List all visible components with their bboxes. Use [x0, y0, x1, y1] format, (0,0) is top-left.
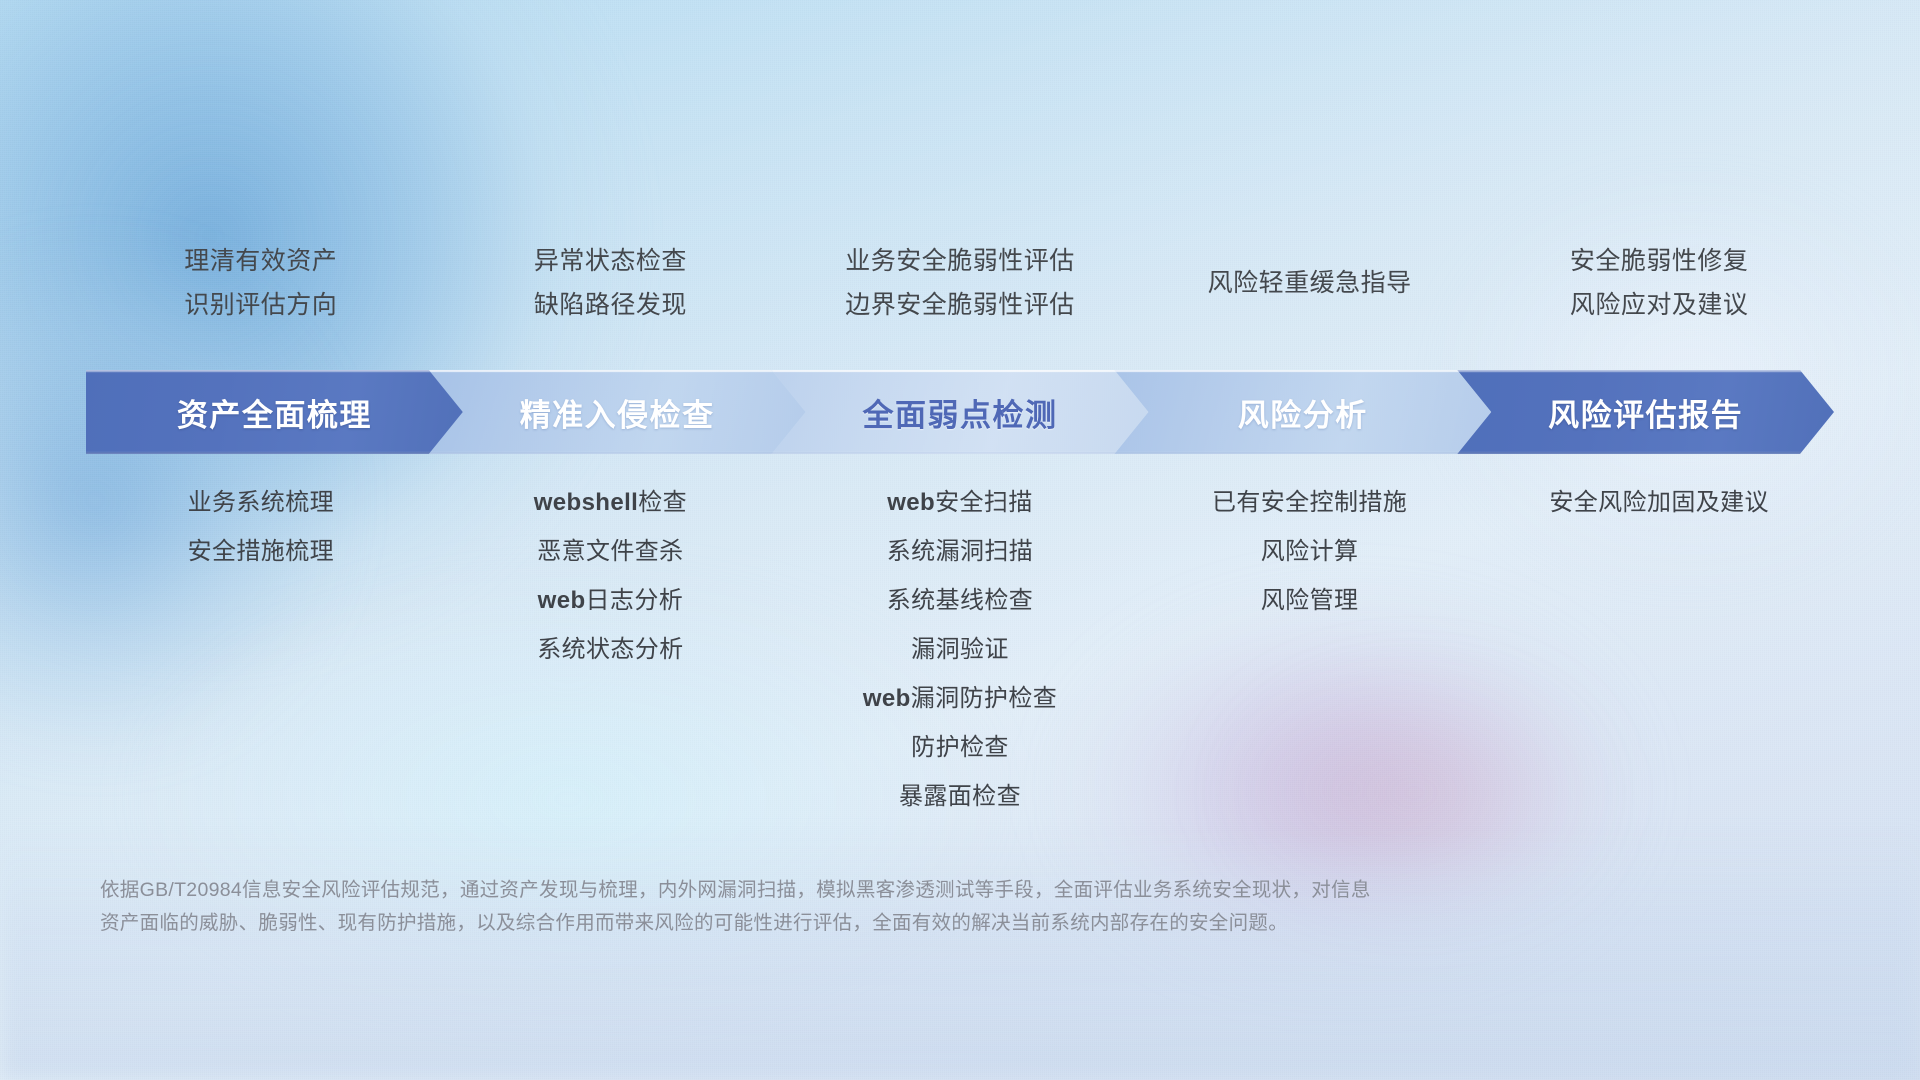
top-descriptor-column-3: 业务安全脆弱性评估边界安全脆弱性评估 — [785, 228, 1135, 338]
process-stage-label: 精准入侵检查 — [520, 390, 715, 435]
detail-item-text: 漏洞验证 — [911, 636, 1009, 663]
top-descriptor-item: 安全脆弱性修复 — [1570, 239, 1749, 283]
detail-item-text: 暴露面检查 — [899, 783, 1021, 810]
detail-item-latin: web — [887, 489, 935, 516]
process-stage-label: 全面弱点检测 — [862, 390, 1057, 435]
process-stage-label: 风险分析 — [1238, 390, 1368, 435]
detail-item-text: 业务系统梳理 — [188, 489, 334, 516]
process-stage-label: 资产全面梳理 — [177, 390, 372, 435]
detail-item: 安全风险加固及建议 — [1549, 478, 1769, 527]
detail-item: web漏洞防护检查 — [863, 674, 1057, 723]
detail-item: 风险管理 — [1261, 576, 1359, 625]
detail-item-latin: web — [863, 685, 911, 712]
detail-column-1: 业务系统梳理安全措施梳理 — [86, 478, 436, 576]
process-chevron-band: 资产全面梳理精准入侵检查全面弱点检测风险分析风险评估报告 — [86, 370, 1834, 454]
detail-item: 系统基线检查 — [887, 576, 1033, 625]
detail-column-3: web安全扫描系统漏洞扫描系统基线检查漏洞验证web漏洞防护检查防护检查暴露面检… — [785, 478, 1135, 821]
detail-item-latin: webshell — [534, 489, 639, 516]
detail-item: 业务系统梳理 — [188, 478, 334, 527]
top-descriptor-column-2: 异常状态检查缺陷路径发现 — [436, 228, 786, 338]
detail-item: 漏洞验证 — [911, 625, 1009, 674]
top-descriptor-item: 理清有效资产 — [184, 239, 337, 283]
top-descriptor-item: 业务安全脆弱性评估 — [845, 239, 1075, 283]
detail-item: 暴露面检查 — [899, 772, 1021, 821]
detail-item: 系统状态分析 — [537, 625, 683, 674]
process-stage-label: 风险评估报告 — [1548, 390, 1743, 435]
detail-column-5: 安全风险加固及建议 — [1484, 478, 1834, 527]
detail-item-text: 风险管理 — [1261, 587, 1359, 614]
detail-item-text: 系统基线检查 — [887, 587, 1033, 614]
detail-item-text: 安全扫描 — [935, 489, 1033, 516]
top-descriptor-item: 缺陷路径发现 — [534, 283, 687, 327]
detail-item-text: 安全风险加固及建议 — [1549, 489, 1769, 516]
footer-description: 依据GB/T20984信息安全风险评估规范，通过资产发现与梳理，内外网漏洞扫描，… — [100, 874, 1700, 940]
top-descriptor-row: 理清有效资产识别评估方向异常状态检查缺陷路径发现业务安全脆弱性评估边界安全脆弱性… — [86, 228, 1834, 338]
slide-content: 理清有效资产识别评估方向异常状态检查缺陷路径发现业务安全脆弱性评估边界安全脆弱性… — [0, 0, 1920, 1080]
detail-item: webshell检查 — [534, 478, 687, 527]
top-descriptor-column-1: 理清有效资产识别评估方向 — [86, 228, 436, 338]
footer-line-2: 资产面临的威胁、脆弱性、现有防护措施，以及综合作用而带来风险的可能性进行评估，全… — [100, 907, 1700, 940]
top-descriptor-item: 异常状态检查 — [534, 239, 687, 283]
detail-item: 风险计算 — [1261, 527, 1359, 576]
detail-item-text: 恶意文件查杀 — [537, 538, 683, 565]
detail-item-text: 风险计算 — [1261, 538, 1359, 565]
top-descriptor-item: 边界安全脆弱性评估 — [845, 283, 1075, 327]
detail-item: 系统漏洞扫描 — [887, 527, 1033, 576]
detail-item: web日志分析 — [538, 576, 684, 625]
process-stage-2[interactable]: 精准入侵检查 — [429, 370, 806, 454]
detail-item-text: 检查 — [638, 489, 687, 516]
process-stage-1[interactable]: 资产全面梳理 — [86, 370, 463, 454]
detail-item: web安全扫描 — [887, 478, 1033, 527]
footer-line-1: 依据GB/T20984信息安全风险评估规范，通过资产发现与梳理，内外网漏洞扫描，… — [100, 874, 1700, 907]
detail-item: 恶意文件查杀 — [537, 527, 683, 576]
top-descriptor-item: 风险轻重缓急指导 — [1208, 261, 1412, 305]
detail-column-4: 已有安全控制措施风险计算风险管理 — [1135, 478, 1485, 625]
detail-item-text: 日志分析 — [586, 587, 684, 614]
detail-item: 防护检查 — [911, 723, 1009, 772]
top-descriptor-item: 识别评估方向 — [184, 283, 337, 327]
detail-item-text: 已有安全控制措施 — [1212, 489, 1407, 516]
detail-item: 已有安全控制措施 — [1212, 478, 1407, 527]
detail-item-text: 防护检查 — [911, 734, 1009, 761]
process-stage-3[interactable]: 全面弱点检测 — [772, 370, 1149, 454]
slide-canvas: 理清有效资产识别评估方向异常状态检查缺陷路径发现业务安全脆弱性评估边界安全脆弱性… — [0, 0, 1920, 1080]
detail-item-text: 系统漏洞扫描 — [887, 538, 1033, 565]
process-stage-4[interactable]: 风险分析 — [1114, 370, 1491, 454]
detail-item: 安全措施梳理 — [188, 527, 334, 576]
detail-item-text: 系统状态分析 — [537, 636, 683, 663]
top-descriptor-item: 风险应对及建议 — [1570, 283, 1749, 327]
top-descriptor-column-5: 安全脆弱性修复风险应对及建议 — [1484, 228, 1834, 338]
detail-column-2: webshell检查恶意文件查杀web日志分析系统状态分析 — [436, 478, 786, 674]
process-stage-5[interactable]: 风险评估报告 — [1457, 370, 1834, 454]
bottom-detail-row: 业务系统梳理安全措施梳理webshell检查恶意文件查杀web日志分析系统状态分… — [86, 478, 1834, 821]
detail-item-text: 漏洞防护检查 — [911, 685, 1057, 712]
detail-item-text: 安全措施梳理 — [188, 538, 334, 565]
top-descriptor-column-4: 风险轻重缓急指导 — [1135, 228, 1485, 338]
detail-item-latin: web — [538, 587, 586, 614]
